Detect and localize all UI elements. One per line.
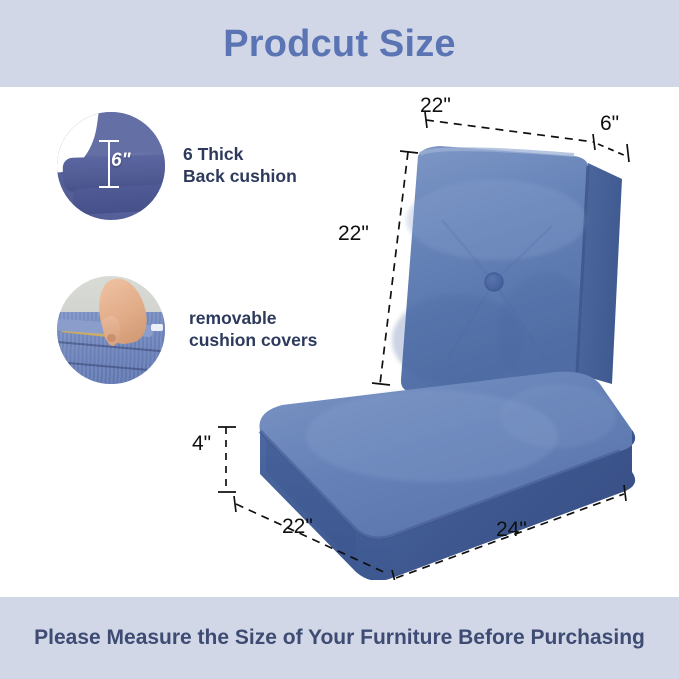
- dimension-back-thickness: 6": [600, 112, 619, 136]
- dimension-back-width: 22": [420, 94, 451, 118]
- photo-dimension-label: 6": [111, 150, 131, 172]
- header-band: Prodcut Size: [0, 0, 679, 87]
- dimension-line-vertical: [108, 140, 110, 188]
- removable-cover-photo: [57, 276, 165, 384]
- fingernail-shape: [107, 334, 116, 342]
- zipper-pull-tab: [151, 324, 163, 331]
- product-size-infographic: Prodcut Size 6" 6 Thick Back cushion: [0, 0, 679, 679]
- cushion-set-diagram: 22" 6" 22" 4" 22" 24": [196, 100, 666, 580]
- dimension-seat-height: 4": [192, 432, 211, 456]
- dimension-back-height: 22": [338, 222, 369, 246]
- dimension-lines: [196, 100, 666, 580]
- back-cushion-thickness-photo: 6": [57, 112, 165, 220]
- dimension-cap-bottom: [99, 186, 119, 188]
- footer-message: Please Measure the Size of Your Furnitur…: [12, 624, 667, 652]
- page-title: Prodcut Size: [223, 25, 456, 63]
- dimension-seat-width: 24": [496, 518, 527, 542]
- dimension-seat-depth: 22": [282, 515, 313, 539]
- footer-band: Please Measure the Size of Your Furnitur…: [0, 597, 679, 679]
